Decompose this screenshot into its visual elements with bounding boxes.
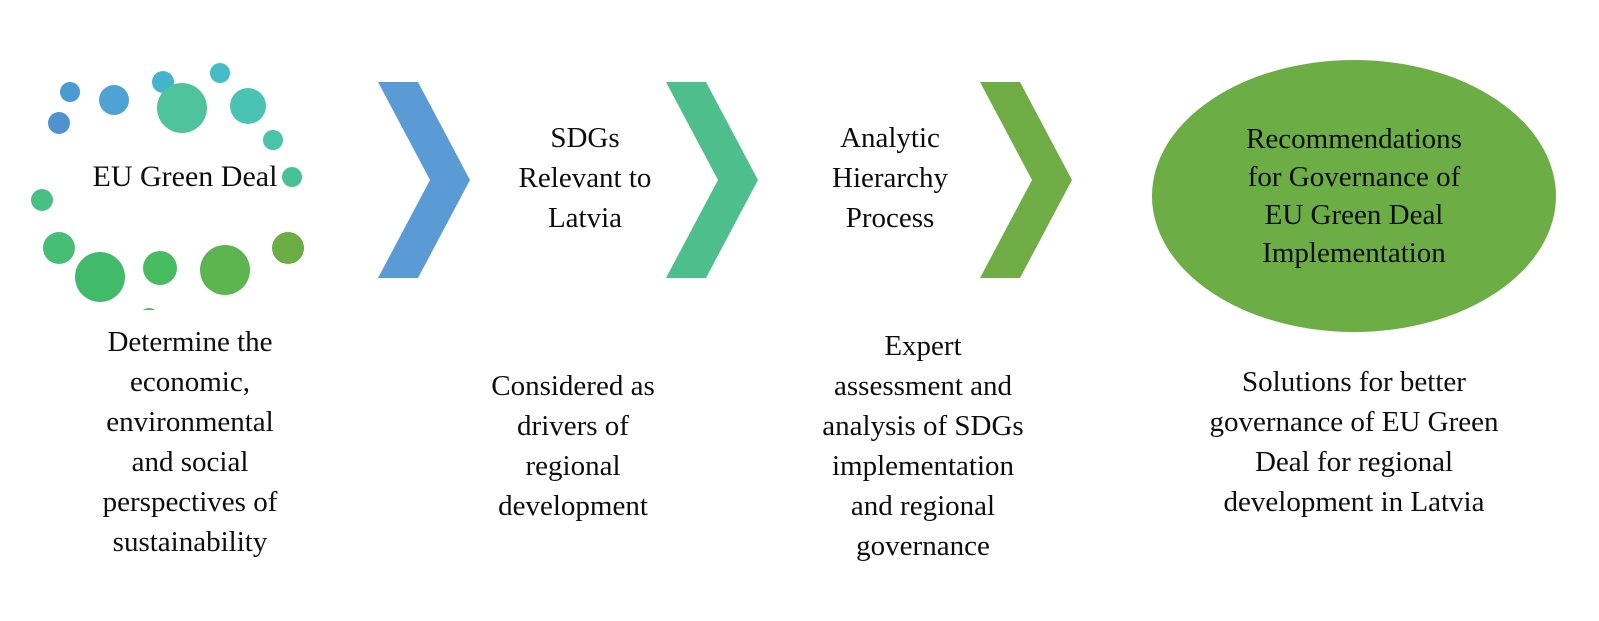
stage-caption-analytic-hierarchy-process: Expert assessment and analysis of SDGs i… [788,326,1058,566]
dot-ring-circle [143,251,177,285]
stage-label-eu-green-deal: EU Green Deal [20,157,350,197]
stage-label-analytic-hierarchy-process: Analytic Hierarchy Process [790,118,990,238]
dot-ring-circle [60,82,80,102]
process-diagram: EU Green Deal SDGs Relevant to Latvia An… [0,0,1599,621]
chevron-arrow-1-shape [370,82,470,278]
recommendations-ellipse: Recommendations for Governance of EU Gre… [1152,60,1556,332]
chevron-arrow-3-shape [972,82,1072,278]
chevron-right-icon-1 [370,82,470,278]
dot-ring-circle [200,245,250,295]
stage-label-recommendations: Recommendations for Governance of EU Gre… [1218,120,1490,272]
dot-ring-circle [263,130,283,150]
chevron-right-icon-2 [658,82,758,278]
dot-ring-circle [75,252,125,302]
chevron-right-icon-3 [972,82,1072,278]
stage-caption-sdgs-relevant-to-latvia: Considered as drivers of regional develo… [448,366,698,526]
dot-ring-circle [43,232,75,264]
dot-ring-circle [210,63,230,83]
dot-ring-circle [139,308,159,310]
dot-ring-circle [99,85,129,115]
stage-caption-recommendations: Solutions for better governance of EU Gr… [1152,362,1556,522]
dot-ring-circle [230,88,266,124]
chevron-arrow-2-shape [658,82,758,278]
dot-ring-circle [48,112,70,134]
stage-caption-eu-green-deal: Determine the economic, environmental an… [45,322,335,562]
dot-ring-circle [157,83,207,133]
dot-ring-circle [272,232,304,264]
